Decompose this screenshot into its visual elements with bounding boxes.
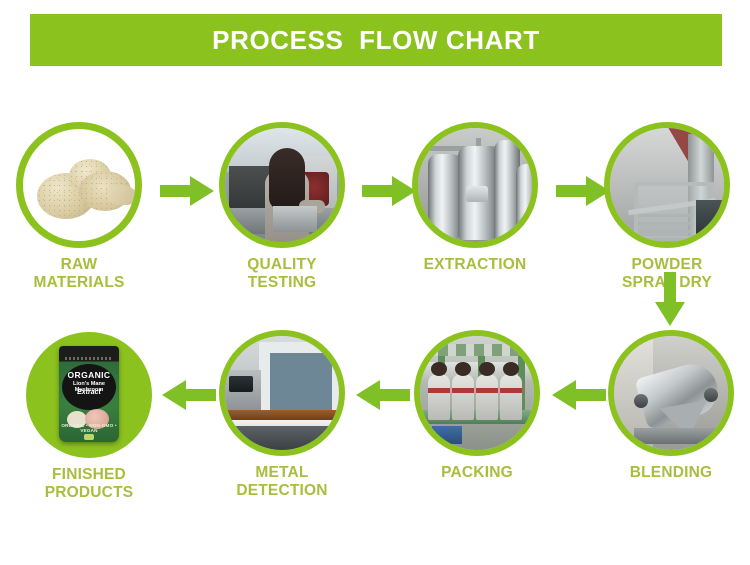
pouch-brand-text: ORGANIC bbox=[59, 370, 119, 380]
arrow-quality-to-extraction bbox=[362, 176, 416, 206]
stage-quality-testing[interactable]: QUALITY TESTING bbox=[219, 122, 345, 292]
pouch-zipper bbox=[65, 357, 113, 360]
metal-detector-conveyor-photo bbox=[225, 336, 339, 450]
product-pouch: ORGANIC Lion's Mane Mushroom Extract ORG… bbox=[59, 346, 119, 442]
arrow-powder-to-blending bbox=[655, 272, 685, 326]
page-title: PROCESS FLOW CHART bbox=[212, 25, 540, 56]
arrow-raw-to-quality bbox=[160, 176, 214, 206]
metal-detection-image bbox=[219, 330, 345, 456]
stage-finished-products[interactable]: ORGANIC Lion's Mane Mushroom Extract ORG… bbox=[26, 332, 152, 502]
packing-label: PACKING bbox=[414, 464, 540, 482]
blending-label: BLENDING bbox=[608, 464, 734, 482]
blending-image bbox=[608, 330, 734, 456]
arrow-packing-to-metal bbox=[356, 380, 410, 410]
arrow-metal-to-finished bbox=[162, 380, 216, 410]
packing-line-workers-photo bbox=[420, 336, 534, 450]
stage-metal-detection[interactable]: METAL DETECTION bbox=[219, 330, 345, 500]
packing-image bbox=[414, 330, 540, 456]
lions-mane-mushrooms-photo bbox=[23, 129, 135, 241]
stage-extraction[interactable]: EXTRACTION bbox=[412, 122, 538, 274]
raw-materials-image bbox=[16, 122, 142, 248]
spray-dryer-plant-photo bbox=[610, 128, 724, 242]
metal-detection-label: METAL DETECTION bbox=[219, 464, 345, 500]
mushroom-shape bbox=[107, 185, 137, 205]
title-banner: PROCESS FLOW CHART bbox=[30, 14, 722, 66]
stage-raw-materials[interactable]: RAW MATERIALS bbox=[16, 122, 142, 292]
product-pouch-photo: ORGANIC Lion's Mane Mushroom Extract ORG… bbox=[26, 332, 152, 458]
pouch-product-type: Extract bbox=[59, 389, 119, 396]
quality-testing-label: QUALITY TESTING bbox=[219, 256, 345, 292]
raw-materials-label: RAW MATERIALS bbox=[16, 256, 142, 292]
stage-blending[interactable]: BLENDING bbox=[608, 330, 734, 482]
arrow-extraction-to-powder bbox=[556, 176, 610, 206]
finished-products-image: ORGANIC Lion's Mane Mushroom Extract ORG… bbox=[26, 332, 152, 458]
lab-technician-testing-photo bbox=[225, 128, 339, 242]
stage-packing[interactable]: PACKING bbox=[414, 330, 540, 482]
pouch-seal-icon bbox=[84, 434, 94, 440]
double-cone-blender-photo bbox=[614, 336, 728, 450]
arrow-blending-to-packing bbox=[552, 380, 606, 410]
pouch-claims-text: ORGANIC • NON-GMO • VEGAN bbox=[59, 423, 119, 433]
extraction-label: EXTRACTION bbox=[412, 256, 538, 274]
finished-products-label: FINISHED PRODUCTS bbox=[26, 466, 152, 502]
extraction-image bbox=[412, 122, 538, 248]
powder-spray-dry-image bbox=[604, 122, 730, 248]
quality-testing-image bbox=[219, 122, 345, 248]
stainless-extraction-tanks-photo bbox=[418, 128, 532, 242]
stage-powder-spray-dry[interactable]: POWDER SPRAY DRY bbox=[604, 122, 730, 292]
